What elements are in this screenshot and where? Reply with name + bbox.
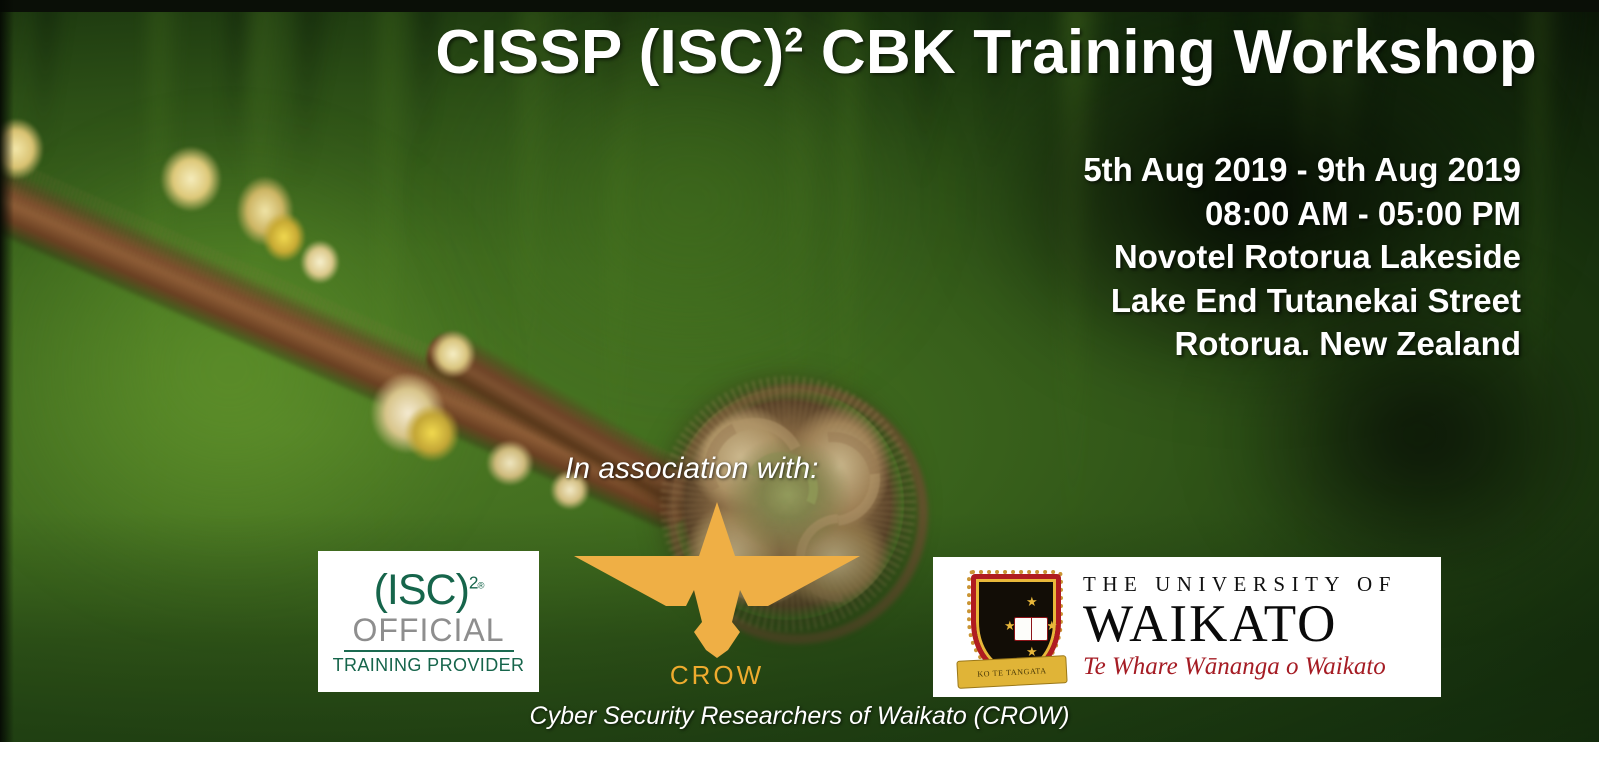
crow-caption: Cyber Security Researchers of Waikato (C… — [0, 702, 1599, 731]
waikato-logo-card: ★ ★ ★ ★ KO TE TANGATA THE UNIVERSITY OF … — [933, 557, 1441, 697]
isc2-logo-card: (ISC)2® OFFICIAL TRAINING PROVIDER — [318, 551, 539, 692]
crest-open-book-icon — [1014, 617, 1048, 641]
fern-bud — [160, 146, 222, 212]
event-venue: Novotel Rotorua Lakeside — [1083, 235, 1521, 279]
title-main: CISSP (ISC) — [435, 18, 784, 87]
crest-motto-ribbon: KO TE TANGATA — [956, 655, 1067, 689]
isc2-wordmark: (ISC)2® — [374, 569, 484, 612]
crow-wordmark: CROW — [572, 662, 862, 688]
bottom-white-strip — [0, 742, 1599, 757]
fern-bud — [486, 440, 534, 486]
fern-bud — [430, 330, 476, 378]
isc2-official-label: OFFICIAL — [352, 614, 504, 648]
waikato-line-maori: Te Whare Wānanga o Waikato — [1083, 653, 1397, 681]
event-dates: 5th Aug 2019 - 9th Aug 2019 — [1083, 148, 1521, 192]
page-title: CISSP (ISC)2 CBK Training Workshop — [0, 20, 1537, 85]
isc2-training-provider-label: TRAINING PROVIDER — [333, 655, 525, 676]
waikato-wordmark: THE UNIVERSITY OF WAIKATO Te Whare Wānan… — [1083, 574, 1397, 681]
event-times: 08:00 AM - 05:00 PM — [1083, 192, 1521, 236]
waikato-coat-of-arms-icon: ★ ★ ★ ★ KO TE TANGATA — [957, 568, 1065, 686]
photo-left-band — [0, 0, 14, 742]
registered-trademark-icon: ® — [477, 581, 483, 592]
fern-bud — [300, 240, 340, 284]
event-details: 5th Aug 2019 - 9th Aug 2019 08:00 AM - 0… — [1083, 148, 1521, 366]
isc2-divider — [344, 650, 514, 652]
crest-star-icon: ★ — [1026, 595, 1038, 608]
title-rest: CBK Training Workshop — [803, 18, 1537, 87]
waikato-line-university: THE UNIVERSITY OF — [1083, 574, 1397, 595]
crow-bird-icon — [572, 498, 862, 658]
waikato-line-name: WAIKATO — [1083, 597, 1397, 651]
crest-motto-text: KO TE TANGATA — [977, 666, 1047, 679]
event-street: Lake End Tutanekai Street — [1083, 279, 1521, 323]
event-banner: CISSP (ISC)2 CBK Training Workshop 5th A… — [0, 0, 1599, 757]
fern-bud — [262, 212, 306, 262]
fern-bud — [404, 404, 460, 462]
title-superscript: 2 — [784, 21, 803, 59]
photo-top-band — [0, 0, 1599, 12]
event-city: Rotorua. New Zealand — [1083, 322, 1521, 366]
association-label: In association with: — [565, 452, 818, 486]
isc2-mark-text: (ISC) — [374, 566, 469, 614]
